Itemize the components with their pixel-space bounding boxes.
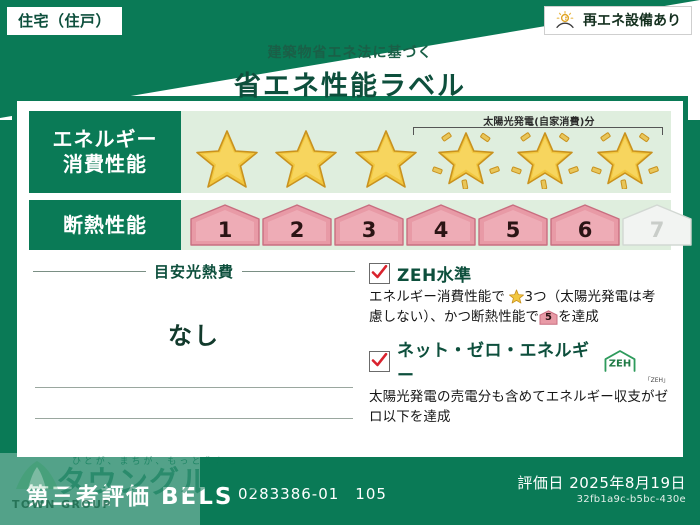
cost-rule-right xyxy=(242,271,355,272)
zeh-body-post: を達成 xyxy=(558,309,599,325)
inline-star-icon xyxy=(509,289,524,304)
check-icon xyxy=(371,352,388,369)
energy-label-line1: エネルギー xyxy=(53,127,158,152)
insulation-grade-5: 5 xyxy=(477,203,549,247)
star-2 xyxy=(270,123,342,189)
svg-text:ZEH: ZEH xyxy=(608,359,630,370)
insulation-performance-label: 断熱性能 xyxy=(29,200,181,250)
insulation-grade-1-value: 1 xyxy=(189,218,261,242)
evaluation-date: 評価日 2025年8月19日 xyxy=(517,472,686,493)
category-tag: 住宅（住戸） xyxy=(6,6,123,36)
label-panel: エネルギー 消費性能 太陽光発電(自家消費)分 xyxy=(12,96,688,462)
claim-zeh-standard-body: エネルギー消費性能で 3つ（太陽光発電は考慮しない）、かつ断熱性能で5を達成 xyxy=(369,288,669,327)
claim-net-zero-body: 太陽光発電の売電分も含めてエネルギー収支がゼロ以下を達成 xyxy=(369,388,669,427)
insulation-grade-6: 6 xyxy=(549,203,621,247)
label-root: 住宅（住戸） 再エネ設備あり 建築物省エネ法に基づく 省エネ性能ラベル エネルギ… xyxy=(0,0,700,525)
sun-icon xyxy=(553,10,577,30)
zeh-logo-icon: ZEH xyxy=(600,349,640,373)
star-3 xyxy=(350,123,422,189)
zeh-trademark-note: 「ZEH」 xyxy=(645,375,669,384)
claim-net-zero-header: ネット・ゼロ・エネルギー ZEH 「ZEH」 xyxy=(369,336,669,386)
insulation-grade-4: 4 xyxy=(405,203,477,247)
title-block: 建築物省エネ法に基づく 省エネ性能ラベル xyxy=(0,42,700,103)
net-zero-checkbox[interactable] xyxy=(369,351,390,372)
claim-zeh-standard-title: ZEH水準 xyxy=(397,261,472,286)
claim-net-zero-energy: ネット・ゼロ・エネルギー ZEH 「ZEH」 太陽光発電の売電分も含めてエネルギ… xyxy=(369,336,669,427)
zeh-standard-checkbox[interactable] xyxy=(369,263,390,284)
check-icon xyxy=(371,264,388,281)
utility-cost-block: 目安光熱費 なし xyxy=(29,257,359,436)
star-5-solar xyxy=(509,123,581,189)
cost-divider-2 xyxy=(35,418,353,419)
insulation-performance-body: 1 2 xyxy=(181,200,671,250)
inline-grade-house-icon: 5 xyxy=(539,310,558,325)
utility-cost-value: なし xyxy=(29,316,359,351)
insulation-grade-4-value: 4 xyxy=(405,218,477,242)
insulation-grade-scale: 1 2 xyxy=(181,200,671,250)
insulation-grade-5-value: 5 xyxy=(477,218,549,242)
energy-label-line2: 消費性能 xyxy=(53,152,158,177)
inline-grade-value: 5 xyxy=(539,311,558,326)
energy-performance-label: エネルギー 消費性能 xyxy=(29,111,181,193)
cost-rule-left xyxy=(33,271,146,272)
insulation-grade-6-value: 6 xyxy=(549,218,621,242)
lower-section: 目安光熱費 なし xyxy=(29,257,671,436)
star-1 xyxy=(191,123,263,189)
evaluation-hash: 32fb1a9c-b5bc-430e xyxy=(577,494,686,505)
utility-cost-title: 目安光熱費 xyxy=(154,261,234,282)
star-6-solar xyxy=(589,123,661,189)
insulation-grade-3-value: 3 xyxy=(333,218,405,242)
insulation-performance-row: 断熱性能 1 xyxy=(29,200,671,250)
renewable-equipment-tag: 再エネ設備あり xyxy=(544,6,692,35)
claim-zeh-standard-header: ZEH水準 xyxy=(369,261,669,286)
insulation-grade-2-value: 2 xyxy=(261,218,333,242)
star-4-solar xyxy=(430,123,502,189)
zeh-body-pre: エネルギー消費性能で xyxy=(369,289,505,305)
energy-performance-row: エネルギー 消費性能 太陽光発電(自家消費)分 xyxy=(29,111,671,193)
renewable-equipment-label: 再エネ設備あり xyxy=(583,10,681,30)
label-footer: 第三者評価 BELS 0283386-01 105 評価日 2025年8月19日… xyxy=(0,463,700,525)
label-title: 省エネ性能ラベル xyxy=(0,64,700,103)
insulation-grade-7: 7 xyxy=(621,203,693,247)
insulation-grade-3: 3 xyxy=(333,203,405,247)
insulation-grade-1: 1 xyxy=(189,203,261,247)
star-rating xyxy=(181,121,671,191)
evaluation-id: 0283386-01 105 xyxy=(238,483,387,504)
label-subtitle: 建築物省エネ法に基づく xyxy=(0,42,700,62)
claim-zeh-standard: ZEH水準 エネルギー消費性能で 3つ（太陽光発電は考慮しない）、かつ断熱性能で… xyxy=(369,261,669,327)
cost-divider-1 xyxy=(35,387,353,388)
claims-block: ZEH水準 エネルギー消費性能で 3つ（太陽光発電は考慮しない）、かつ断熱性能で… xyxy=(359,257,671,436)
insulation-grade-2: 2 xyxy=(261,203,333,247)
bels-evaluation-label: 第三者評価 BELS xyxy=(26,477,233,511)
claim-net-zero-title: ネット・ゼロ・エネルギー xyxy=(397,336,593,386)
insulation-grade-7-value: 7 xyxy=(621,218,693,242)
energy-performance-body: 太陽光発電(自家消費)分 xyxy=(181,111,671,193)
utility-cost-header: 目安光熱費 xyxy=(29,261,359,282)
